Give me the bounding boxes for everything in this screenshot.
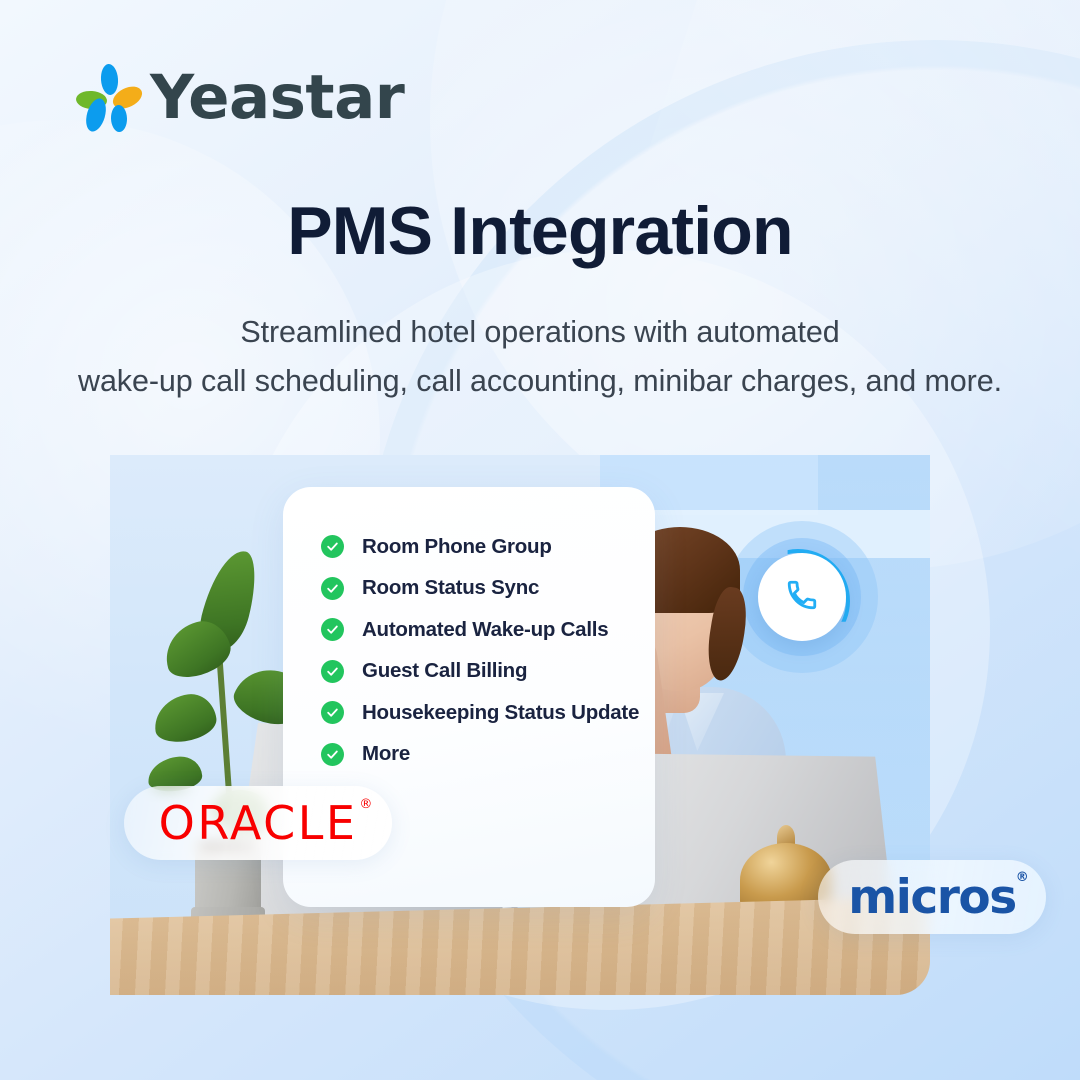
partner-badge-oracle[interactable]: ORACLE®: [124, 786, 392, 860]
registered-mark: ®: [359, 798, 372, 811]
micros-logo-text: micros®: [848, 874, 1015, 921]
list-item: Housekeeping Status Update: [321, 697, 655, 728]
brand-logo[interactable]: Yeastar: [78, 64, 404, 130]
feature-label: More: [362, 742, 410, 766]
yeastar-flower-mark-icon: [78, 64, 140, 130]
check-circle-icon: [321, 535, 344, 558]
oracle-logo-text: ORACLE®: [159, 800, 358, 846]
check-circle-icon: [321, 660, 344, 683]
list-item: More: [321, 739, 655, 770]
page-title: PMS Integration: [0, 194, 1080, 269]
subtitle-line-2: wake-up call scheduling, call accounting…: [0, 357, 1080, 406]
feature-label: Room Status Sync: [362, 576, 539, 600]
registered-mark: ®: [1016, 871, 1029, 884]
list-item: Automated Wake-up Calls: [321, 614, 655, 645]
check-circle-icon: [321, 577, 344, 600]
partner-badge-micros[interactable]: micros®: [818, 860, 1046, 934]
list-item: Guest Call Billing: [321, 656, 655, 687]
page-subtitle: Streamlined hotel operations with automa…: [0, 308, 1080, 407]
check-circle-icon: [321, 743, 344, 766]
feature-label: Room Phone Group: [362, 535, 552, 559]
brand-logo-text: Yeastar: [150, 67, 404, 128]
subtitle-line-1: Streamlined hotel operations with automa…: [0, 308, 1080, 357]
list-item: Room Phone Group: [321, 531, 655, 562]
feature-label: Guest Call Billing: [362, 659, 527, 683]
feature-label: Automated Wake-up Calls: [362, 618, 608, 642]
list-item: Room Status Sync: [321, 573, 655, 604]
check-circle-icon: [321, 701, 344, 724]
feature-label: Housekeeping Status Update: [362, 701, 639, 725]
poster-canvas: Yeastar PMS Integration Streamlined hote…: [0, 0, 1080, 1080]
potted-plant: [150, 547, 300, 937]
check-circle-icon: [321, 618, 344, 641]
